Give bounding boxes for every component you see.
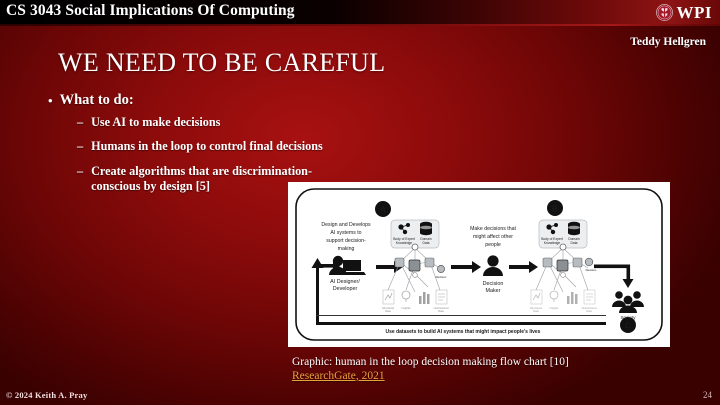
- slide-title: WE NEED TO BE CAREFUL: [58, 48, 385, 78]
- wpi-logo: WPI: [656, 1, 713, 23]
- bullet-level2-label: Use AI to make decisions: [91, 115, 220, 130]
- badge-c-label: C: [625, 322, 631, 331]
- box-knowledge-b-line2: Knowledge: [544, 241, 560, 245]
- data-structured-a-l2: Data: [385, 309, 391, 313]
- data-structured-b-l2: Data: [533, 309, 539, 313]
- badge-a: A: [375, 201, 391, 217]
- header-divider: [0, 24, 720, 26]
- bullet-level1-label: What to do:: [60, 92, 134, 109]
- designer-desc-line3: support decision-: [326, 238, 366, 244]
- wpi-wordmark: WPI: [677, 4, 713, 21]
- decision-node-label-a: Decision: [436, 275, 447, 279]
- bottom-bar-label: Use datasets to build AI systems that mi…: [386, 329, 541, 335]
- feedback-bar-top: [316, 315, 606, 316]
- designer-desc-line1: Design and Develops: [321, 222, 371, 228]
- box-domain-b-line2: Data: [571, 241, 578, 245]
- decision-node-label-b: Decision: [586, 268, 597, 272]
- box-domain-line2: Data: [423, 241, 430, 245]
- slide-canvas: CS 3043 Social Implications Of Computing…: [0, 0, 720, 405]
- badge-b-label: B: [552, 205, 558, 214]
- bullet-marker-dash: –: [77, 164, 83, 179]
- bullet-level2: – Humans in the loop to control final de…: [77, 139, 378, 154]
- figure-caption: Graphic: human in the loop decision maki…: [292, 356, 692, 383]
- presenter-name: Teddy Hellgren: [630, 36, 706, 48]
- decision-desc-line2: might affect other: [473, 234, 513, 240]
- caption-text: Graphic: human in the loop decision maki…: [292, 356, 569, 368]
- bullet-level1: • What to do:: [48, 92, 378, 109]
- decision-name-line2: Maker: [486, 288, 501, 294]
- decision-desc-line1: Make decisions that: [470, 226, 516, 232]
- bullet-marker-dash: –: [77, 139, 83, 154]
- caption-source-link[interactable]: ResearchGate, 2021: [292, 370, 385, 384]
- designer-name-line2: Developer: [333, 286, 358, 292]
- data-insights-a: Insights: [402, 306, 412, 310]
- data-unstructured-a-l2: Data: [438, 309, 444, 313]
- decision-name-line1: Decision: [483, 281, 504, 287]
- designer-desc-line2: AI systems to: [330, 230, 361, 236]
- society-label: Society: [620, 315, 636, 320]
- badge-b: B: [547, 200, 563, 216]
- slide-header-bar: CS 3043 Social Implications Of Computing…: [0, 0, 720, 24]
- decision-desc-line3: people: [485, 242, 501, 248]
- designer-desc-line4: making: [338, 246, 355, 252]
- data-insights-b: Insights: [550, 306, 560, 310]
- course-title: CS 3043 Social Implications Of Computing: [6, 2, 295, 20]
- designer-name-line1: AI Designer/: [330, 279, 360, 285]
- bullet-level2-label: Humans in the loop to control final deci…: [91, 139, 323, 154]
- flowchart-image: A B C Design and Develops AI systems to …: [288, 182, 670, 347]
- bullet-level2: – Use AI to make decisions: [77, 115, 378, 130]
- bullet-marker-dot: •: [48, 92, 53, 109]
- copyright-notice: © 2024 Keith A. Pray: [6, 390, 87, 400]
- slide-number: 24: [703, 390, 712, 400]
- flowchart-svg: A B C Design and Develops AI systems to …: [288, 182, 670, 347]
- data-unstructured-b-l2: Data: [586, 309, 592, 313]
- box-knowledge-line2: Knowledge: [396, 241, 412, 245]
- badge-a-label: A: [380, 206, 386, 215]
- wpi-seal-icon: [656, 4, 673, 21]
- bullet-marker-dash: –: [77, 115, 83, 130]
